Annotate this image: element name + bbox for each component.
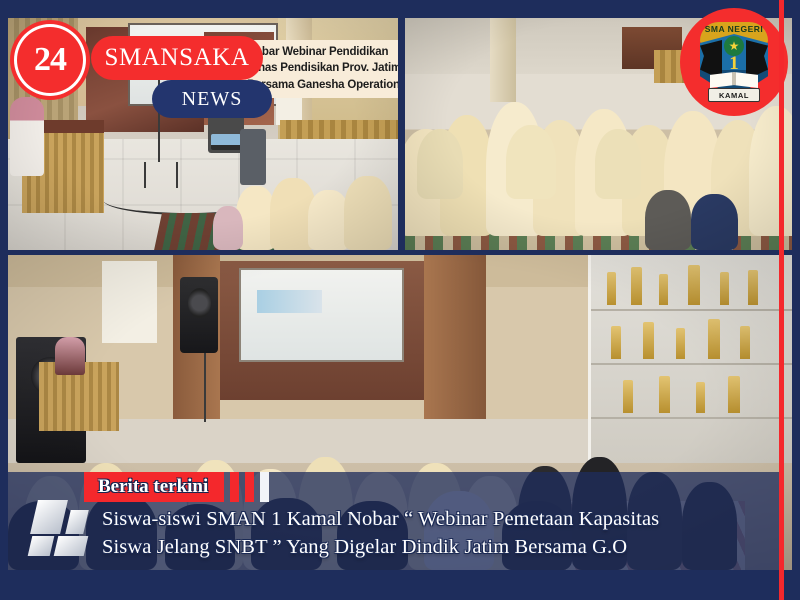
accent-bar-red-2 [245,472,254,502]
breaking-news-tag: Berita terkini [84,472,224,502]
news-headline: Siswa-siswi SMAN 1 Kamal Nobar “ Webinar… [102,506,770,561]
accent-bar-white [260,472,269,502]
projector-screen-main-icon [239,268,404,363]
host-figure [55,337,85,375]
school-crest-icon: SMA NEGERI ★ 1 KAMAL [694,20,774,104]
laptop-icon [211,134,241,150]
badge-24: 24 [14,24,86,96]
school-logo: SMA NEGERI ★ 1 KAMAL [680,8,788,116]
news-poster: Nobar Webinar Pendidikan Dinas Pendisika… [0,0,800,600]
brand-name-pill: SMANSAKA [91,36,263,80]
trophy-cabinet [588,255,792,463]
right-edge-accent [779,0,784,600]
breaking-news-tag-group: Berita terkini [84,472,269,502]
news-banner: Berita terkini Siswa-siswi SMAN 1 Kamal … [8,472,784,570]
headline-line-2: Siswa Jelang SNBT ” Yang Digelar Dindik … [102,534,770,562]
presenter-figure [10,97,44,176]
speaker-stand-icon [180,277,218,353]
headline-line-1: Siswa-siswi SMAN 1 Kamal Nobar “ Webinar… [102,506,770,534]
accent-bar-red-1 [230,472,239,502]
tiles-decoration-icon [30,498,92,556]
news-pill: NEWS [152,80,272,118]
caption-line-1: Nobar Webinar Pendidikan [247,44,398,60]
caption-line-2: Dinas Pendisikan Prov. Jatim [247,60,398,76]
crest-number: 1 [729,54,739,73]
crest-bottom-text: KAMAL [708,88,760,102]
